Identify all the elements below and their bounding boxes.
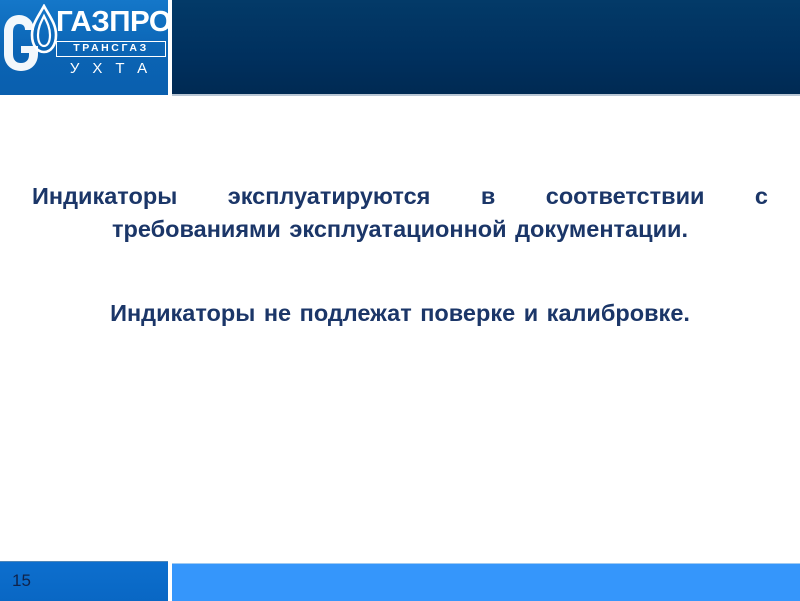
gazprom-flame-g-icon [4,4,60,88]
slide-header: ГАЗПРОМ ТРАНСГАЗ УХТА [0,0,800,96]
page-number: 15 [12,571,31,591]
logo-wordmark-primary: ГАЗПРОМ [56,6,168,38]
logo-wordmark-location: УХТА [56,60,168,78]
logo-wordmark-secondary: ТРАНСГАЗ [60,42,162,55]
body-paragraph: Индикаторы эксплуатируются в соответстви… [32,180,768,246]
logo-transgaz-box: ТРАНСГАЗ [56,41,166,57]
footer-right-band [172,563,800,601]
logo-wordmark: ГАЗПРОМ ТРАНСГАЗ УХТА [56,6,168,94]
header-band [172,0,800,96]
footer-left-block: 15 [0,561,168,601]
body-paragraph: Индикаторы не подлежат поверке и калибро… [32,297,768,330]
slide-footer: 15 [0,561,800,600]
slide-content: Индикаторы эксплуатируются в соответстви… [0,180,800,330]
logo-block: ГАЗПРОМ ТРАНСГАЗ УХТА [0,0,168,95]
